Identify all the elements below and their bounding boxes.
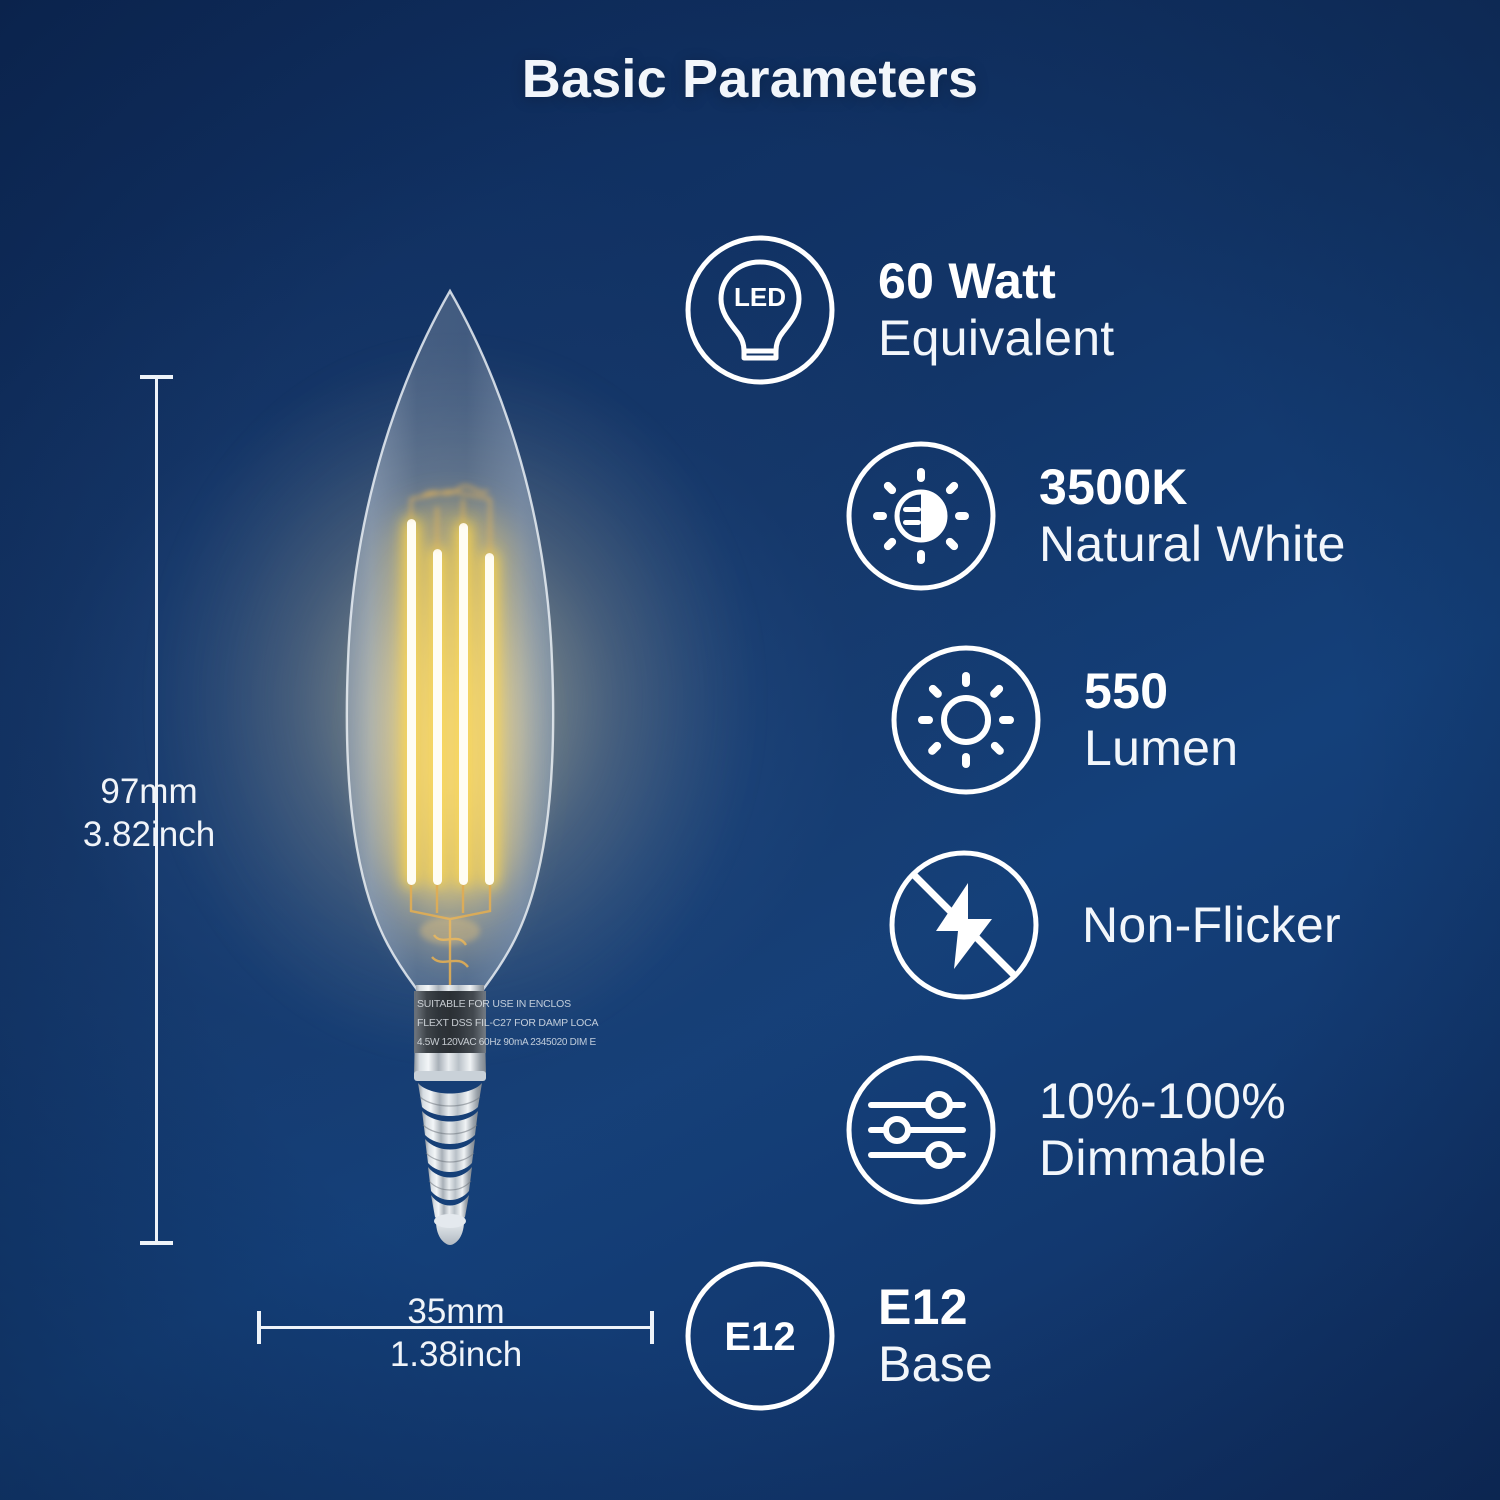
feature-primary: 3500K [1039,459,1346,516]
color-temperature-icon [845,440,997,592]
feature-primary: 10%-100% [1039,1073,1286,1130]
e12-icon-label: E12 [724,1315,795,1359]
feature-primary: 60 Watt [878,253,1115,310]
feature-labels: Non-Flicker [1082,897,1341,954]
feature-row-lumen: 550 Lumen [890,640,1450,800]
feature-secondary: Base [878,1336,993,1393]
feature-labels: 550 Lumen [1084,663,1238,777]
feature-row-base: E12 E12 Base [684,1258,1204,1413]
feature-labels: 10%-100% Dimmable [1039,1073,1286,1187]
feature-row-color-temperature: 3500K Natural White [845,436,1405,596]
feature-secondary: Lumen [1084,720,1238,777]
feature-primary: E12 [878,1279,993,1336]
feature-primary: 550 [1084,663,1238,720]
feature-secondary: Non-Flicker [1082,897,1341,954]
e12-base-icon: E12 [684,1260,836,1412]
feature-labels: 3500K Natural White [1039,459,1346,573]
feature-secondary: Natural White [1039,516,1346,573]
feature-labels: 60 Watt Equivalent [878,253,1115,367]
feature-row-non-flicker: Non-Flicker [888,845,1448,1005]
no-flicker-icon [888,849,1040,1001]
feature-list: LED 60 Watt Equivalent [0,0,1500,1500]
led-icon-label: LED [734,282,786,312]
brightness-sun-icon [890,644,1042,796]
feature-labels: E12 Base [878,1279,993,1393]
feature-row-dimmable: 10%-100% Dimmable [845,1050,1405,1210]
feature-secondary: Dimmable [1039,1130,1286,1187]
feature-row-wattage: LED 60 Watt Equivalent [684,234,1254,386]
led-bulb-icon: LED [684,234,836,386]
feature-secondary: Equivalent [878,310,1115,367]
dimmer-sliders-icon [845,1054,997,1206]
